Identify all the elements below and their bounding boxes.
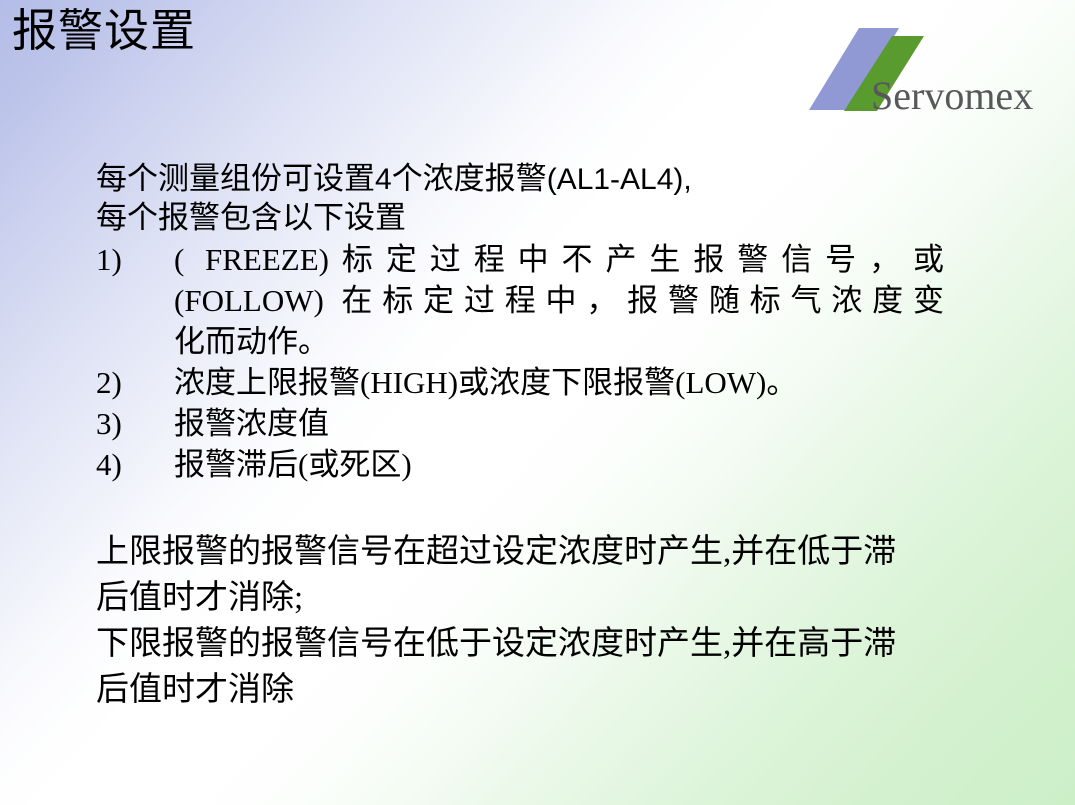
presentation-slide: 报警设置 Servomex 每个测量组份可设置4个浓度报警(AL1-AL4), …: [0, 0, 1075, 805]
list-item-marker: 1): [96, 239, 174, 280]
list-item: 3) 报警浓度值: [96, 403, 996, 444]
logo-wordmark: Servomex: [871, 72, 1033, 119]
paragraph-line: 下限报警的报警信号在低于设定浓度时产生,并在高于滞: [96, 621, 996, 667]
servomex-logo: Servomex: [789, 14, 1067, 122]
lead-line-1-code: (AL1-AL4),: [547, 163, 692, 196]
paragraph-high-alarm: 上限报警的报警信号在超过设定浓度时产生,并在低于滞 后值时才消除;: [96, 529, 996, 621]
list-item-line: 浓度上限报警(HIGH)或浓度下限报警(LOW)。: [174, 362, 996, 403]
lead-line-1: 每个测量组份可设置4个浓度报警(AL1-AL4),: [96, 160, 996, 199]
paragraph-low-alarm: 下限报警的报警信号在低于设定浓度时产生,并在高于滞 后值时才消除: [96, 621, 996, 713]
list-item: 1) ( FREEZE)标定过程中不产生报警信号，或 (FOLLOW) 在标定过…: [96, 239, 996, 362]
list-item-line: 报警浓度值: [174, 403, 996, 444]
list-item-line: 报警滞后(或死区): [174, 444, 996, 485]
list-item-marker: 2): [96, 362, 174, 403]
slide-body: 每个测量组份可设置4个浓度报警(AL1-AL4), 每个报警包含以下设置 1) …: [96, 160, 996, 713]
paragraph-line: 上限报警的报警信号在超过设定浓度时产生,并在低于滞: [96, 529, 996, 575]
lead-line-2: 每个报警包含以下设置: [96, 199, 996, 237]
list-item-text: ( FREEZE)标定过程中不产生报警信号，或 (FOLLOW) 在标定过程中，…: [174, 239, 996, 362]
list-item-text: 报警滞后(或死区): [174, 444, 996, 485]
list-item-marker: 3): [96, 403, 174, 444]
paragraph-line: 后值时才消除: [96, 667, 996, 713]
alarm-settings-list: 1) ( FREEZE)标定过程中不产生报警信号，或 (FOLLOW) 在标定过…: [96, 239, 996, 485]
list-item-line: 化而动作。: [174, 321, 996, 362]
list-item-line: ( FREEZE)标定过程中不产生报警信号，或: [174, 239, 944, 280]
lead-line-1-pre: 每个测量组份可设置: [96, 161, 375, 196]
lead-line-1-mid: 个浓度报警: [392, 161, 547, 196]
list-item-text: 浓度上限报警(HIGH)或浓度下限报警(LOW)。: [174, 362, 996, 403]
slide-title: 报警设置: [12, 6, 196, 56]
list-item-line: (FOLLOW) 在标定过程中，报警随标气浓度变: [174, 280, 944, 321]
lead-line-1-number: 4: [375, 163, 392, 196]
list-item: 2) 浓度上限报警(HIGH)或浓度下限报警(LOW)。: [96, 362, 996, 403]
list-item-marker: 4): [96, 444, 174, 485]
list-item-text: 报警浓度值: [174, 403, 996, 444]
paragraph-line: 后值时才消除;: [96, 575, 996, 621]
slide-content: 报警设置 Servomex 每个测量组份可设置4个浓度报警(AL1-AL4), …: [0, 0, 1075, 805]
alarm-behaviour-paragraphs: 上限报警的报警信号在超过设定浓度时产生,并在低于滞 后值时才消除; 下限报警的报…: [96, 529, 996, 713]
list-item: 4) 报警滞后(或死区): [96, 444, 996, 485]
